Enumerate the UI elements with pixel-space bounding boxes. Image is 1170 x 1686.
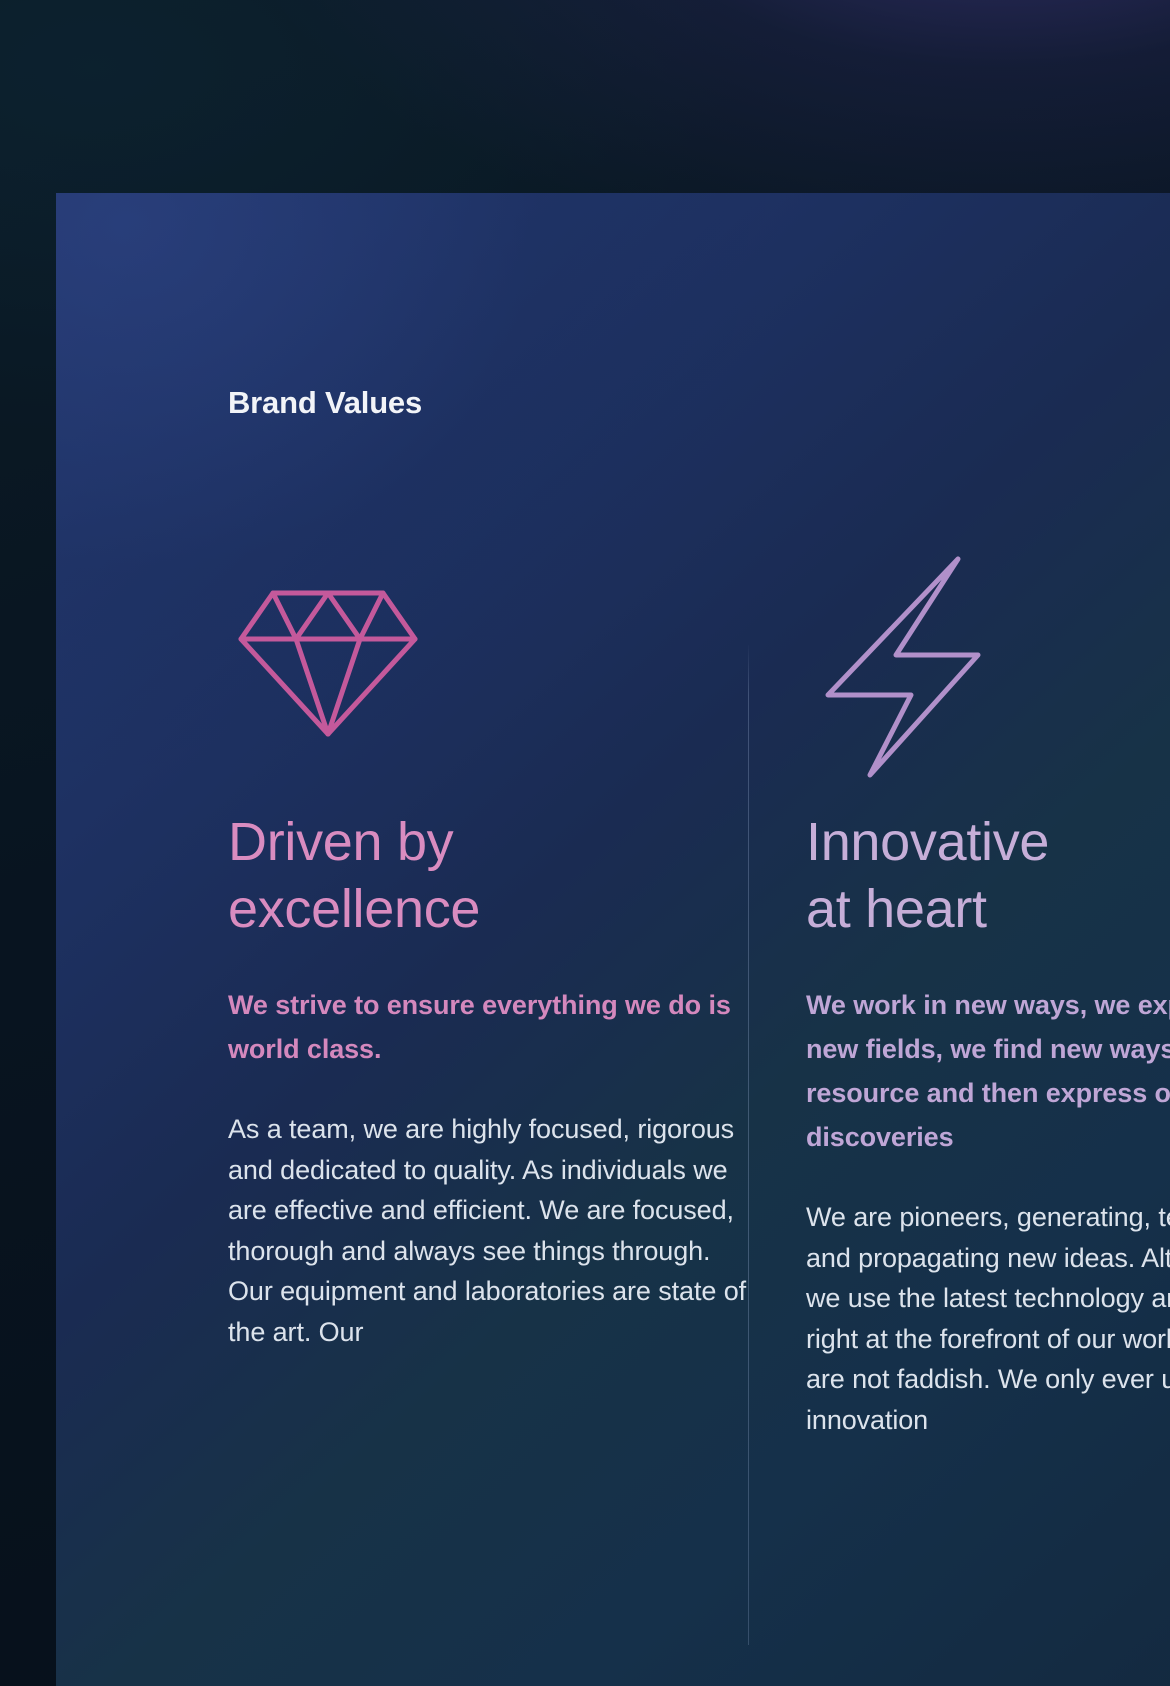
value-title: Driven byexcellence bbox=[228, 809, 748, 943]
value-lead: We work in new ways, we explore new fiel… bbox=[806, 983, 1170, 1159]
brand-value-card-innovative-at-heart: Innovativeat heart We work in new ways, … bbox=[748, 577, 1170, 1440]
brand-values-panel: Brand Values bbox=[56, 193, 1170, 1686]
lightning-bolt-icon bbox=[806, 577, 1170, 809]
column-divider bbox=[748, 645, 749, 1645]
brand-value-card-driven-by-excellence: Driven byexcellence We strive to ensure … bbox=[228, 577, 748, 1440]
value-body: As a team, we are highly focused, rigoro… bbox=[228, 1109, 748, 1352]
value-title-line-2: at heart bbox=[806, 879, 987, 939]
page-title: Brand Values bbox=[228, 386, 1170, 420]
value-body: We are pioneers, generating, testing and… bbox=[806, 1197, 1170, 1440]
diamond-icon bbox=[228, 577, 748, 809]
value-title: Innovativeat heart bbox=[806, 809, 1170, 943]
value-lead: We strive to ensure everything we do is … bbox=[228, 983, 748, 1071]
brand-values-columns: Driven byexcellence We strive to ensure … bbox=[228, 577, 1170, 1440]
value-title-line-1: Driven by bbox=[228, 812, 453, 872]
value-title-line-2: excellence bbox=[228, 879, 480, 939]
value-title-line-1: Innovative bbox=[806, 812, 1049, 872]
